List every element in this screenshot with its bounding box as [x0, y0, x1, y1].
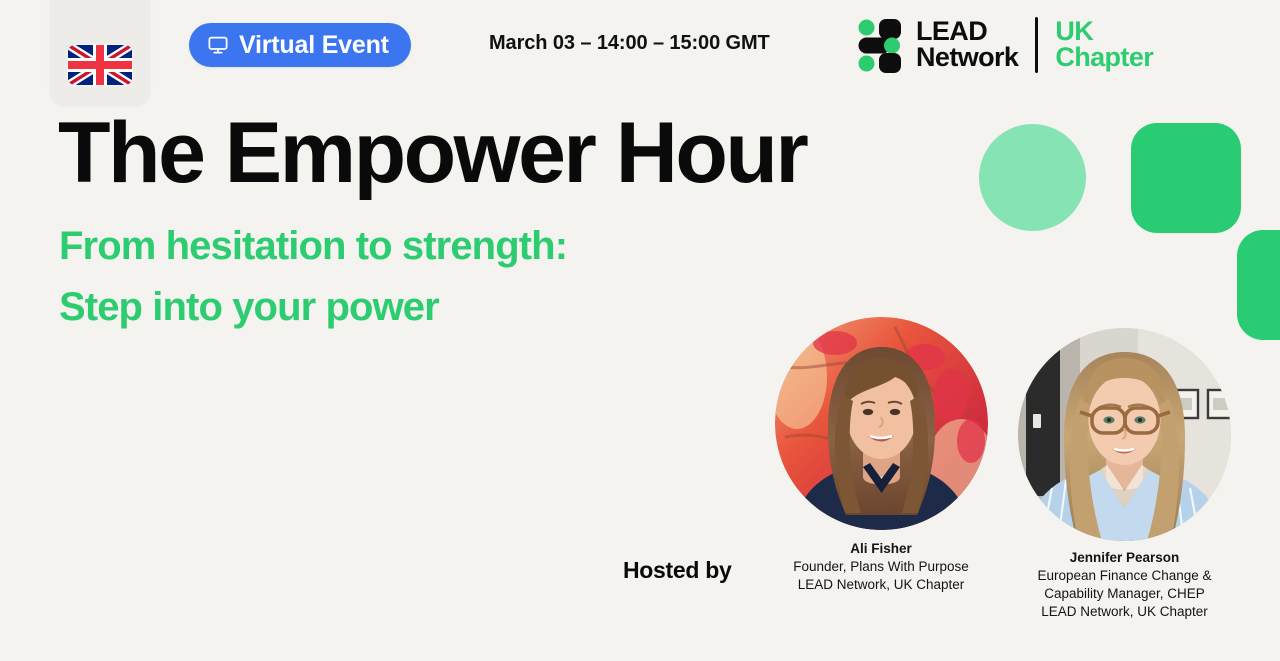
logo-word-line2: Network: [916, 42, 1018, 72]
decorative-mint-circle: [979, 124, 1086, 231]
lead-network-logo: LEAD Network UK Chapter: [857, 15, 1153, 75]
logo-chapter-text: UK Chapter: [1055, 19, 1153, 71]
speaker-name: Jennifer Pearson: [1018, 549, 1231, 567]
page-title: The Empower Hour: [58, 110, 806, 196]
virtual-event-label: Virtual Event: [239, 33, 389, 58]
speaker-name: Ali Fisher: [772, 540, 990, 558]
subtitle-line-2: Step into your power: [59, 277, 567, 338]
uk-flag-icon: [68, 45, 132, 85]
speaker-card-jennifer-pearson: Jennifer Pearson European Finance Change…: [1018, 328, 1231, 621]
decorative-green-square-lower: [1237, 230, 1280, 340]
hosted-by-label: Hosted by: [623, 557, 731, 584]
speaker-info: Jennifer Pearson European Finance Change…: [1018, 549, 1231, 621]
event-banner: Virtual Event March 03 – 14:00 – 15:00 G…: [0, 0, 1280, 661]
avatar: [1018, 328, 1231, 541]
uk-flag-card: [50, 0, 150, 105]
page-subtitle: From hesitation to strength: Step into y…: [59, 216, 567, 338]
speaker-card-ali-fisher: Ali Fisher Founder, Plans With Purpose L…: [772, 317, 990, 594]
speaker-org: LEAD Network, UK Chapter: [772, 576, 990, 594]
logo-wordmark: LEAD Network: [916, 19, 1018, 71]
speaker-role-line-1: European Finance Change &: [1018, 567, 1231, 585]
speaker-org: LEAD Network, UK Chapter: [1018, 603, 1231, 621]
virtual-event-badge[interactable]: Virtual Event: [189, 23, 411, 67]
avatar: [775, 317, 988, 530]
presentation-screen-icon: [207, 34, 229, 56]
speaker-role-line-2: Capability Manager, CHEP: [1018, 585, 1231, 603]
lead-network-nodes-icon: [857, 18, 903, 73]
speaker-role: Founder, Plans With Purpose: [772, 558, 990, 576]
speaker-info: Ali Fisher Founder, Plans With Purpose L…: [772, 540, 990, 594]
decorative-green-square-upper: [1131, 123, 1241, 233]
logo-chapter-line2: Chapter: [1055, 42, 1153, 72]
subtitle-line-1: From hesitation to strength:: [59, 216, 567, 277]
event-datetime: March 03 – 14:00 – 15:00 GMT: [489, 32, 770, 55]
logo-divider: [1035, 17, 1038, 73]
